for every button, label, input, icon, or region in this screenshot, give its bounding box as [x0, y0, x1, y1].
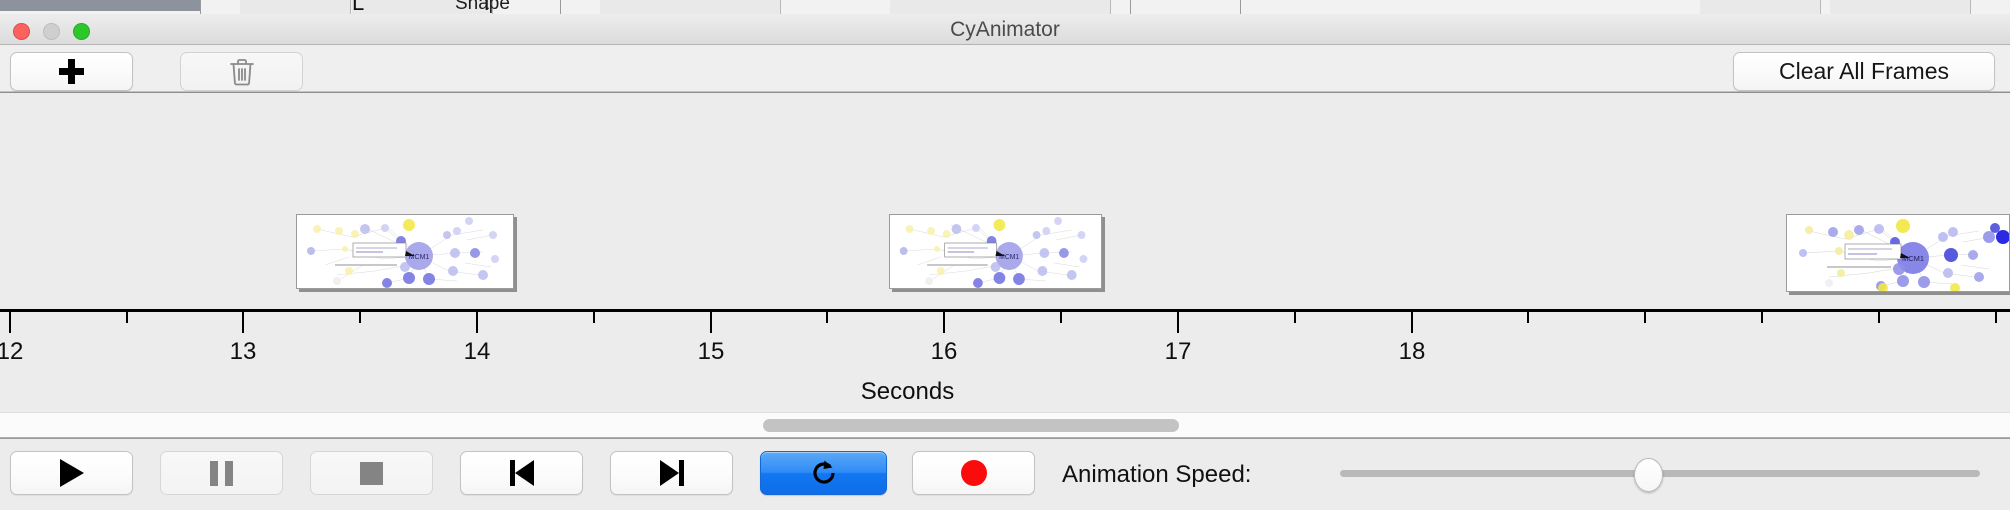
playback-toolbar: Animation Speed: [0, 438, 2010, 510]
cyanimator-window: L T Shape CyAnimator Clear All Frames [0, 0, 2010, 510]
background-window-strip: L T Shape [0, 0, 2010, 14]
clear-all-frames-button[interactable]: Clear All Frames [1733, 52, 1995, 91]
background-window-label: Shape [455, 0, 510, 14]
axis-tick-minor [1527, 312, 1529, 323]
axis-tick-major [476, 312, 478, 333]
skip-start-icon [510, 460, 534, 486]
toolbar: Clear All Frames [0, 45, 2010, 92]
background-tab [600, 0, 781, 14]
axis-tick-minor [1995, 312, 1997, 323]
axis-tick-major [242, 312, 244, 333]
network-graph-pale: MCM1 [297, 215, 514, 289]
background-tab [240, 0, 351, 14]
timeline-axis-line [0, 309, 2010, 312]
axis-tick-minor [1644, 312, 1646, 323]
window-title: CyAnimator [0, 14, 2010, 45]
axis-tick-major [710, 312, 712, 333]
network-graph-pale: MCM1 [890, 215, 1102, 289]
axis-title: Seconds [0, 378, 1815, 406]
axis-tick-label: 17 [1143, 338, 1213, 366]
frame-thumbnail-1[interactable]: MCM1 [296, 214, 514, 289]
axis-tick-minor [1294, 312, 1296, 323]
background-tab [1830, 0, 1971, 14]
background-toolbar-dark [0, 0, 200, 11]
title-bar: CyAnimator [0, 14, 2010, 45]
background-glyph: L [352, 0, 364, 14]
pause-button[interactable] [160, 451, 283, 495]
axis-tick-label: 12 [0, 338, 45, 366]
trash-icon [229, 58, 255, 86]
plus-icon [59, 59, 84, 84]
axis-tick-minor [826, 312, 828, 323]
background-divider [1240, 0, 1241, 14]
axis-tick-label: 16 [909, 338, 979, 366]
axis-tick-label: 14 [442, 338, 512, 366]
axis-tick-label: 13 [208, 338, 278, 366]
frame-thumbnail-2[interactable]: MCM1 [889, 214, 1102, 289]
axis-tick-label: 18 [1377, 338, 1447, 366]
axis-tick-major [9, 312, 11, 333]
timeline-scrollbar[interactable] [0, 412, 2010, 438]
axis-tick-minor [126, 312, 128, 323]
stop-icon [360, 462, 383, 485]
axis-tick-major [1177, 312, 1179, 333]
skip-end-icon [660, 460, 684, 486]
timeline-scrollbar-thumb[interactable] [763, 419, 1179, 432]
axis-tick-minor [1761, 312, 1763, 323]
axis-tick-major [943, 312, 945, 333]
stop-button[interactable] [310, 451, 433, 495]
background-divider [1130, 0, 1131, 14]
axis-tick-minor [593, 312, 595, 323]
axis-tick-major [1411, 312, 1413, 333]
background-divider [200, 0, 201, 14]
clear-all-frames-label: Clear All Frames [1779, 58, 1949, 85]
animation-speed-slider-thumb[interactable] [1634, 458, 1663, 492]
loop-button[interactable] [760, 451, 887, 495]
step-forward-button[interactable] [610, 451, 733, 495]
play-icon [60, 459, 84, 487]
background-divider [560, 0, 561, 14]
background-tab [890, 0, 1111, 14]
axis-tick-minor [1060, 312, 1062, 323]
play-button[interactable] [10, 451, 133, 495]
record-button[interactable] [912, 451, 1035, 495]
delete-frame-button[interactable] [180, 52, 303, 91]
loop-icon [809, 458, 839, 488]
svg-text:MCM1: MCM1 [1902, 254, 1924, 263]
axis-tick-minor [1878, 312, 1880, 323]
timeline-panel[interactable]: MCM1 [0, 92, 2010, 412]
add-frame-button[interactable] [10, 52, 133, 91]
background-tab [1700, 0, 1821, 14]
record-icon [961, 460, 987, 486]
network-graph-vivid: MCM1 [1787, 215, 2010, 292]
frame-thumbnail-3[interactable]: MCM1 [1786, 214, 2010, 292]
axis-tick-label: 15 [676, 338, 746, 366]
animation-speed-label: Animation Speed: [1062, 461, 1251, 489]
axis-tick-minor [359, 312, 361, 323]
step-back-button[interactable] [460, 451, 583, 495]
pause-icon [210, 461, 233, 486]
